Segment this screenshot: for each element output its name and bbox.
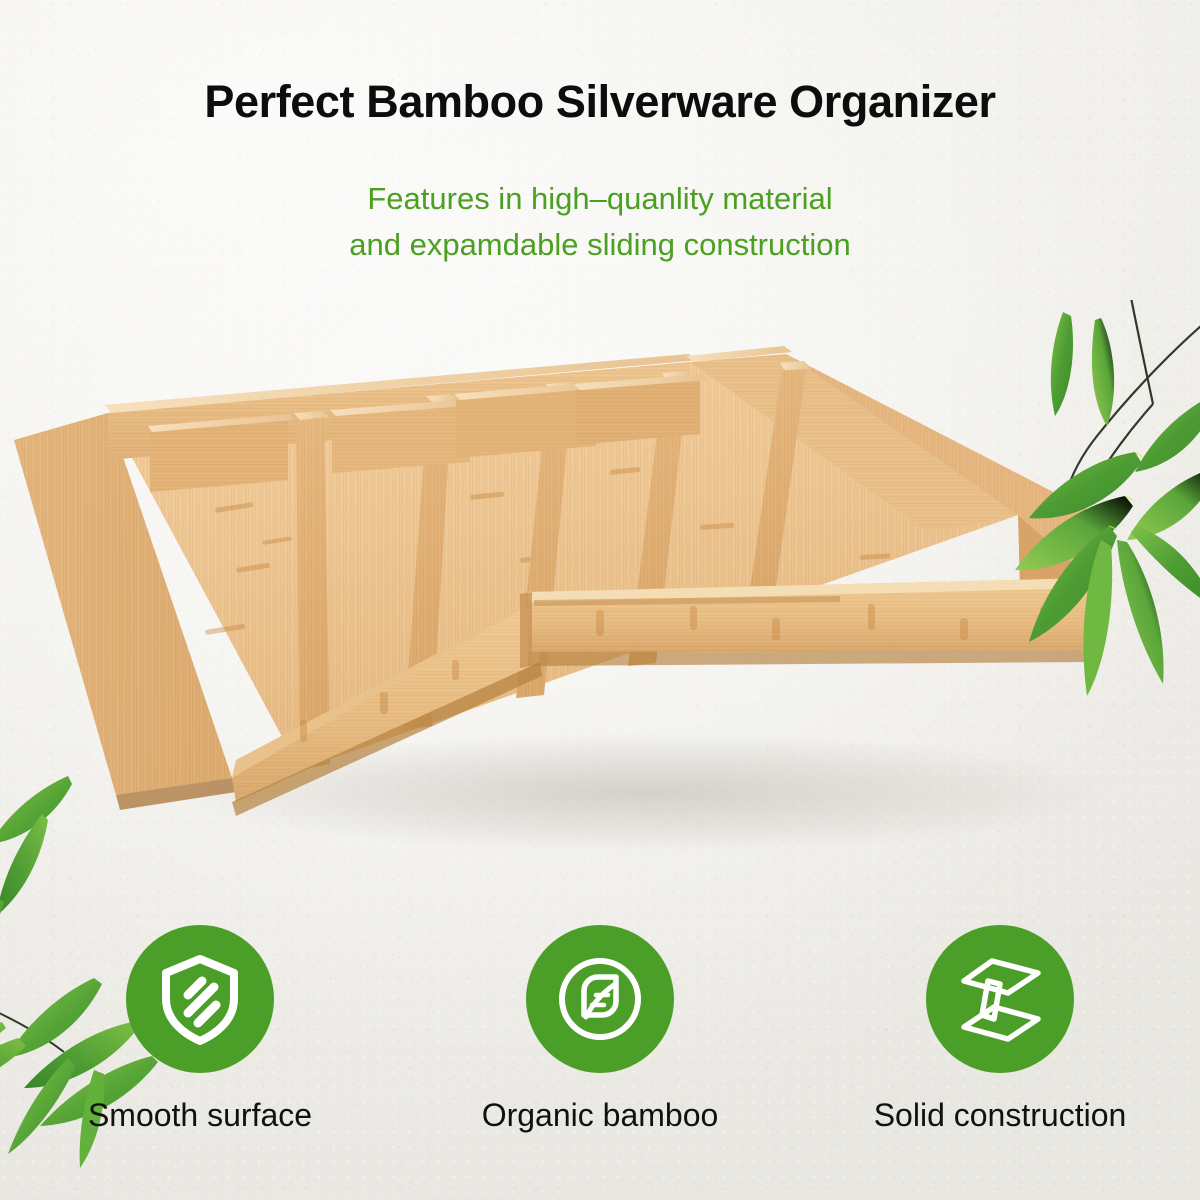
feature-icon-circle (526, 925, 674, 1073)
feature-item-solid-construction: Solid construction (800, 925, 1200, 1165)
product-image (0, 300, 1200, 880)
bamboo-tray-illustration (0, 300, 1200, 880)
tray-front-right-sliding-wall (520, 578, 1094, 668)
feature-item-smooth-surface: Smooth surface (0, 925, 400, 1165)
feature-label: Smooth surface (88, 1097, 312, 1134)
subtitle-line-1: Features in high–quanlity material (367, 181, 832, 216)
leaf-icon (552, 951, 648, 1047)
feature-label: Organic bamboo (482, 1097, 719, 1134)
page-title: Perfect Bamboo Silverware Organizer (0, 76, 1200, 128)
feature-icon-circle (926, 925, 1074, 1073)
feature-list: Smooth surface Organic bamboo (0, 925, 1200, 1165)
i-beam-icon (950, 949, 1050, 1049)
page-subtitle: Features in high–quanlity material and e… (0, 176, 1200, 268)
shield-icon (152, 951, 248, 1047)
feature-label: Solid construction (874, 1097, 1127, 1134)
subtitle-line-2: and expamdable sliding construction (0, 222, 1200, 268)
product-marketing-banner: Perfect Bamboo Silverware Organizer Feat… (0, 0, 1200, 1200)
feature-item-organic-bamboo: Organic bamboo (400, 925, 800, 1165)
feature-icon-circle (126, 925, 274, 1073)
